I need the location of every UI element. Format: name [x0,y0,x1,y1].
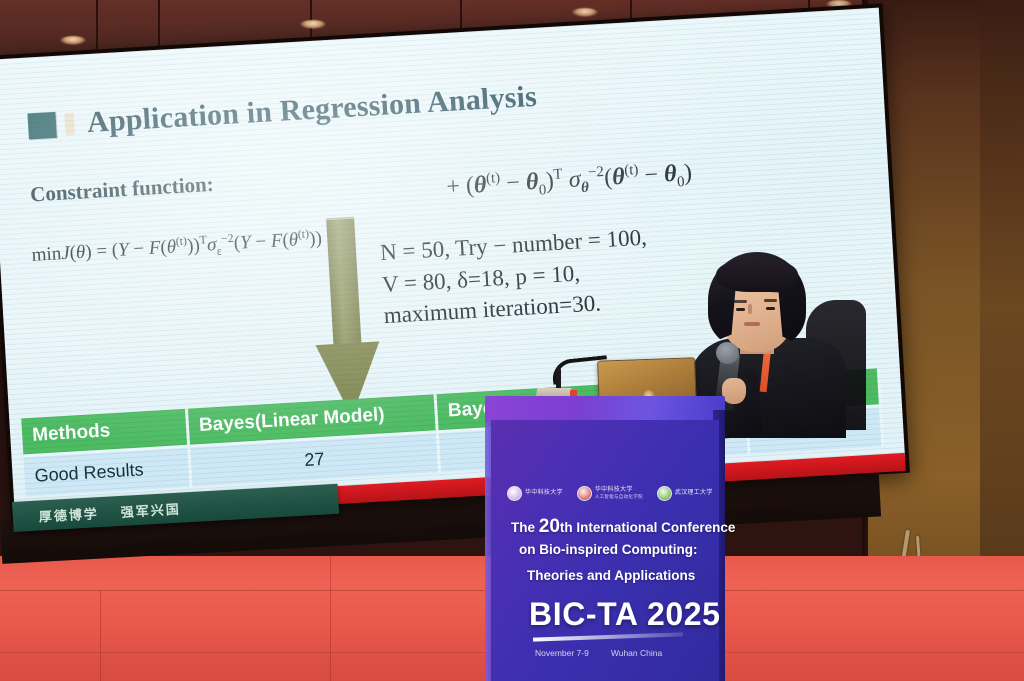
podium-line-2: on Bio-inspired Computing: [519,542,697,557]
speaker-nose [748,304,752,314]
speaker-fringe [716,258,798,292]
speaker-hand [722,378,746,404]
podium-line-1: The 20th International Conference [511,516,735,538]
podium-front-panel: 华中科技大学 华中科技大学 人工智能与自动化学院 武汉理工大学 The 20th… [491,420,719,681]
conference-location: Wuhan China [611,648,662,658]
logo-item: 华中科技大学 [507,486,563,501]
conference-date: November 7-9 [535,648,589,658]
slide-title-row: Application in Regression Analysis [27,80,538,144]
down-arrow-icon [308,216,384,419]
hust-ai-school-logo-icon [577,486,592,501]
logo-item: 华中科技大学 人工智能与自动化学院 [577,486,643,501]
formula-line-2: minJ(θ) = (Y − F(θ(t)))Tσε−2(Y − F(θ(t))… [31,227,323,270]
logo-label: 武汉理工大学 [675,490,713,497]
logo-label: 华中科技大学 [525,490,563,497]
section-label: Constraint function: [29,172,214,208]
speaker-mouth [744,322,760,326]
banner-text-right: 强军兴国 [120,498,181,520]
podium-meta: November 7-9 Wuhan China [535,648,715,658]
podium-line-3: Theories and Applications [527,568,695,583]
logo-label: 华中科技大学 [595,487,643,494]
bullet-square-icon [27,112,56,140]
podium-edition-number: 20 [539,516,560,537]
wit-logo-icon [657,486,672,501]
screenshot-root: Application in Regression Analysis Const… [0,0,1024,681]
conference-acronym: BIC-TA 2025 [529,596,721,633]
podium-line1-prefix: The [511,520,539,535]
ceiling-light-icon [60,36,86,45]
logo-sublabel: 人工智能与自动化学院 [595,494,643,499]
page-title: Application in Regression Analysis [86,80,538,140]
logo-item: 武汉理工大学 [657,486,713,501]
banner-text-left: 厚德博学 [38,503,99,525]
sponsor-logos: 华中科技大学 华中科技大学 人工智能与自动化学院 武汉理工大学 [507,482,707,504]
ceiling-light-icon [300,20,326,29]
podium-line1-suffix: th International Conference [560,520,736,535]
bullet-accent-icon [64,113,74,135]
podium-underline [533,632,683,641]
hust-logo-icon [507,486,522,501]
formula-line-1: + (θ(t) − θ0)T σθ−2(θ(t) − θ0) [446,159,693,205]
ceiling-light-icon [572,8,598,17]
podium: 华中科技大学 华中科技大学 人工智能与自动化学院 武汉理工大学 The 20th… [485,396,725,681]
podium-top-surface [485,396,725,422]
table-cell: Good Results [23,446,191,496]
